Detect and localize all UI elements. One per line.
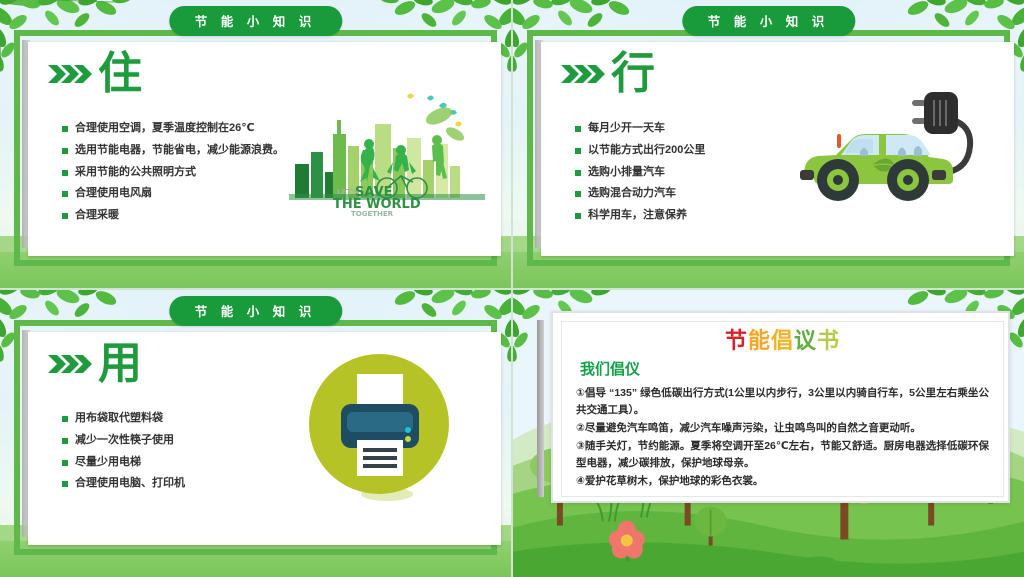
proposal-paragraph: ③随手关灯，节约能源。夏季将空调开至26℃左右，节能又舒适。厨房电器选择低碳环保…	[576, 438, 989, 472]
list-item: 合理使用电风扇	[62, 187, 284, 201]
list-item-label: 合理采暖	[75, 209, 119, 223]
bullet-list: 用布袋取代塑料袋 减少一次性筷子使用 尽量少用电梯 合理使用电脑、打印机	[62, 412, 185, 499]
bullet-square-icon	[62, 416, 68, 422]
triple-chevron-right-icon	[561, 61, 607, 87]
list-item: 合理采暖	[62, 209, 284, 223]
slide-grid: 节 能 小 知 识 住 合理使用空调，夏季温度控制在26℃ 选用节能电器，节能省…	[0, 0, 1024, 577]
list-item: 以节能方式出行200公里	[575, 144, 705, 158]
list-item: 每月少开一天车	[575, 122, 705, 136]
headline: 用	[48, 342, 142, 386]
list-item-label: 选用节能电器，节能省电，减少能源浪费。	[75, 144, 284, 158]
list-item-label: 每月少开一天车	[588, 122, 665, 136]
bullet-list: 每月少开一天车 以节能方式出行200公里 选购小排量汽车 选购混合动力汽车 科学…	[575, 122, 705, 231]
triple-chevron-right-icon	[48, 61, 94, 87]
list-item-label: 用布袋取代塑料袋	[75, 412, 163, 426]
proposal-title-char: 倡	[771, 329, 794, 354]
slide-yong[interactable]: 节 能 小 知 识 用 用布袋取代塑料袋 减少一次性筷子使用 尽量少用电梯 合理…	[0, 289, 512, 577]
list-item-label: 合理使用电脑、打印机	[75, 477, 185, 491]
headline-char: 住	[98, 52, 142, 96]
bullet-square-icon	[62, 481, 68, 487]
proposal-panel: 节能倡议书 我们倡仪 ①倡导 “135” 绿色低碳出行方式(1公里以内步行，3公…	[551, 311, 1010, 503]
bullet-square-icon	[62, 170, 68, 176]
list-item-label: 选购小排量汽车	[588, 166, 665, 180]
list-item-label: 科学用车，注意保养	[588, 209, 687, 223]
proposal-paragraph: ①倡导 “135” 绿色低碳出行方式(1公里以内步行，3公里以内骑自行车，5公里…	[576, 385, 989, 419]
slide-xing[interactable]: 节 能 小 知 识 行 每月少开一天车 以节能方式出行200公里 选购小排量汽车…	[512, 0, 1024, 289]
printer-circle-icon	[307, 352, 459, 504]
list-item: 合理使用空调，夏季温度控制在26℃	[62, 122, 284, 136]
list-item-label: 采用节能的公共照明方式	[75, 166, 196, 180]
bullet-list: 合理使用空调，夏季温度控制在26℃ 选用节能电器，节能省电，减少能源浪费。 采用…	[62, 122, 284, 231]
list-item: 用布袋取代塑料袋	[62, 412, 185, 426]
triple-chevron-right-icon	[48, 351, 94, 377]
bullet-square-icon	[62, 438, 68, 444]
proposal-paragraph: ④爱护花草树木，保护地球的彩色衣裳。	[576, 473, 989, 490]
headline: 行	[561, 52, 655, 96]
list-item: 减少一次性筷子使用	[62, 434, 185, 448]
list-item: 选购小排量汽车	[575, 166, 705, 180]
list-item-label: 尽量少用电梯	[75, 456, 141, 470]
bullet-square-icon	[62, 126, 68, 132]
list-item-label: 以节能方式出行200公里	[588, 144, 705, 158]
proposal-subtitle: 我们倡仪	[580, 358, 989, 379]
headline-char: 用	[98, 342, 142, 386]
slide-zhu[interactable]: 节 能 小 知 识 住 合理使用空调，夏季温度控制在26℃ 选用节能电器，节能省…	[0, 0, 512, 289]
frame-post-left	[537, 320, 544, 497]
header-banner: 节 能 小 知 识	[169, 6, 342, 36]
bullet-square-icon	[62, 460, 68, 466]
bullet-square-icon	[575, 191, 581, 197]
proposal-title-char: 议	[794, 329, 817, 354]
bullet-square-icon	[575, 126, 581, 132]
electric-car-with-plug-illustration	[794, 78, 1004, 218]
proposal-paragraph: ②尽量避免汽车鸣笛，减少汽车噪声污染，让虫鸣鸟叫的自然之音更动听。	[576, 420, 989, 437]
headline: 住	[48, 52, 142, 96]
bullet-square-icon	[62, 148, 68, 154]
proposal-title-char: 书	[817, 329, 840, 354]
slide-proposal[interactable]: 节能倡议书 我们倡仪 ①倡导 “135” 绿色低碳出行方式(1公里以内步行，3公…	[512, 289, 1024, 577]
list-item-label: 合理使用空调，夏季温度控制在26℃	[75, 122, 255, 136]
bullet-square-icon	[575, 213, 581, 219]
list-item-label: 减少一次性筷子使用	[75, 434, 174, 448]
bullet-square-icon	[62, 191, 68, 197]
proposal-title: 节能倡议书	[576, 330, 989, 354]
bullet-square-icon	[575, 148, 581, 154]
bullet-square-icon	[62, 213, 68, 219]
header-banner: 节 能 小 知 识	[169, 296, 342, 326]
caption-together: TOGETHER	[351, 210, 394, 218]
list-item: 科学用车，注意保养	[575, 209, 705, 223]
proposal-title-char: 能	[748, 329, 771, 354]
list-item: 选用节能电器，节能省电，减少能源浪费。	[62, 144, 284, 158]
proposal-title-chars: 节能倡议书	[725, 329, 840, 354]
bullet-square-icon	[575, 170, 581, 176]
list-item: 尽量少用电梯	[62, 456, 185, 470]
list-item: 采用节能的公共照明方式	[62, 166, 284, 180]
list-item: 选购混合动力汽车	[575, 187, 705, 201]
list-item-label: 合理使用电风扇	[75, 187, 152, 201]
list-item: 合理使用电脑、打印机	[62, 477, 185, 491]
eco-city-silhouette-illustration: LET'S SAVE THE WORLD TOGETHER	[289, 88, 489, 218]
headline-char: 行	[611, 52, 655, 96]
list-item-label: 选购混合动力汽车	[588, 187, 676, 201]
proposal-title-char: 节	[725, 329, 748, 354]
proposal-panel-inner: 节能倡议书 我们倡仪 ①倡导 “135” 绿色低碳出行方式(1公里以内步行，3公…	[561, 321, 1004, 497]
header-banner: 节 能 小 知 识	[682, 6, 855, 36]
